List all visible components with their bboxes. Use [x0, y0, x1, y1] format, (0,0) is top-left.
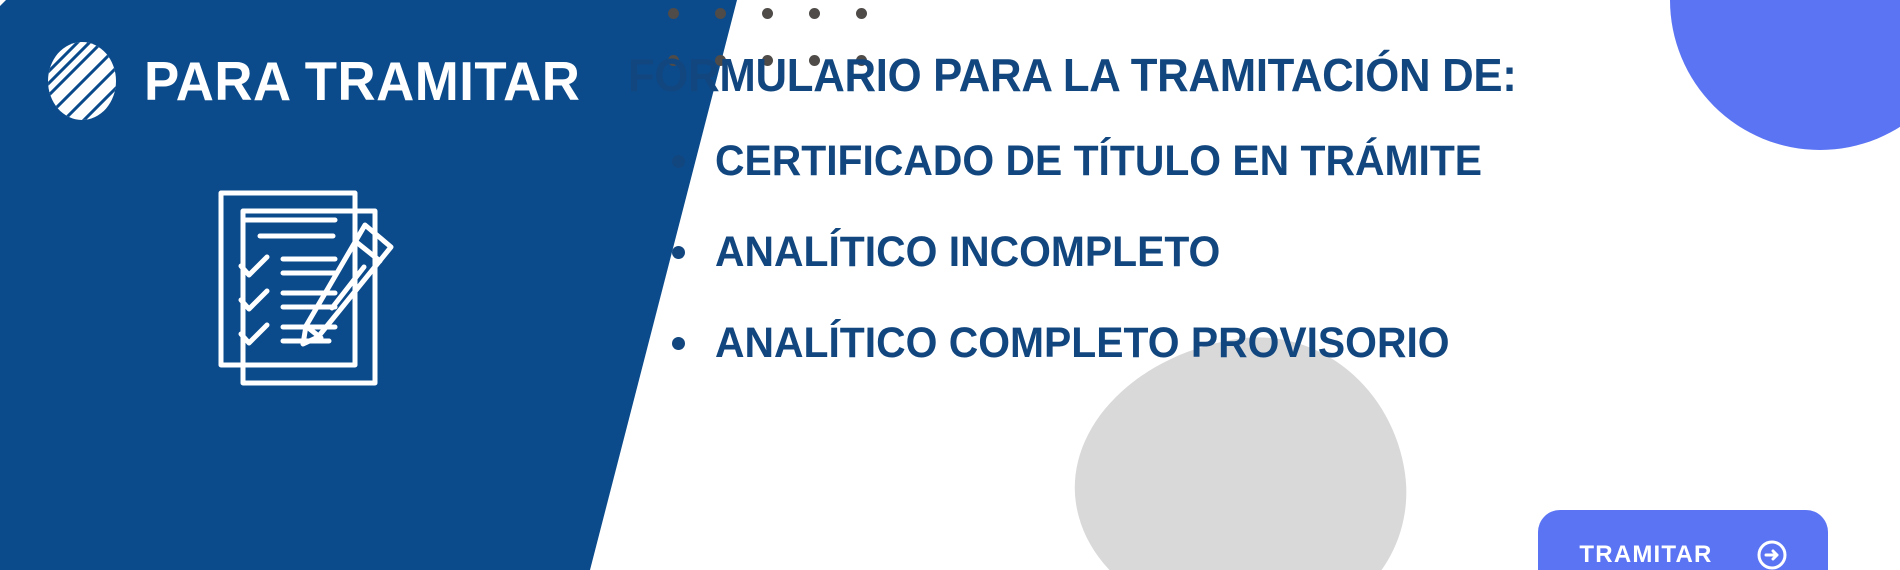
list-item: CERTIFICADO DE TÍTULO EN TRÁMITE	[672, 140, 1522, 183]
promo-banner: PARA TRAMITAR	[0, 0, 1900, 570]
list-item: ANALÍTICO COMPLETO PROVISORIO	[672, 322, 1522, 365]
arrow-circle-icon	[1757, 540, 1787, 570]
decorative-circle	[1670, 0, 1900, 150]
service-list: CERTIFICADO DE TÍTULO EN TRÁMITE ANALÍTI…	[672, 140, 1522, 413]
dot-grid-pattern	[668, 0, 868, 52]
checklist-document-pencil-icon	[205, 178, 415, 393]
page-title: FORMULARIO PARA LA TRAMITACIÓN DE:	[628, 52, 1516, 98]
bullet-dot-icon	[672, 246, 685, 259]
list-item-label: ANALÍTICO INCOMPLETO	[715, 231, 1220, 274]
list-item-label: ANALÍTICO COMPLETO PROVISORIO	[715, 322, 1450, 365]
list-item-label: CERTIFICADO DE TÍTULO EN TRÁMITE	[715, 140, 1482, 183]
brand-name: PARA TRAMITAR	[144, 54, 580, 109]
list-item: ANALÍTICO INCOMPLETO	[672, 231, 1522, 274]
brand-logo-group: PARA TRAMITAR	[44, 40, 599, 122]
tramitar-button[interactable]: TRAMITAR	[1538, 510, 1828, 570]
bullet-dot-icon	[672, 337, 685, 350]
striped-circle-logo-icon	[44, 40, 120, 122]
bullet-dot-icon	[672, 155, 685, 168]
tramitar-button-label: TRAMITAR	[1579, 541, 1712, 569]
